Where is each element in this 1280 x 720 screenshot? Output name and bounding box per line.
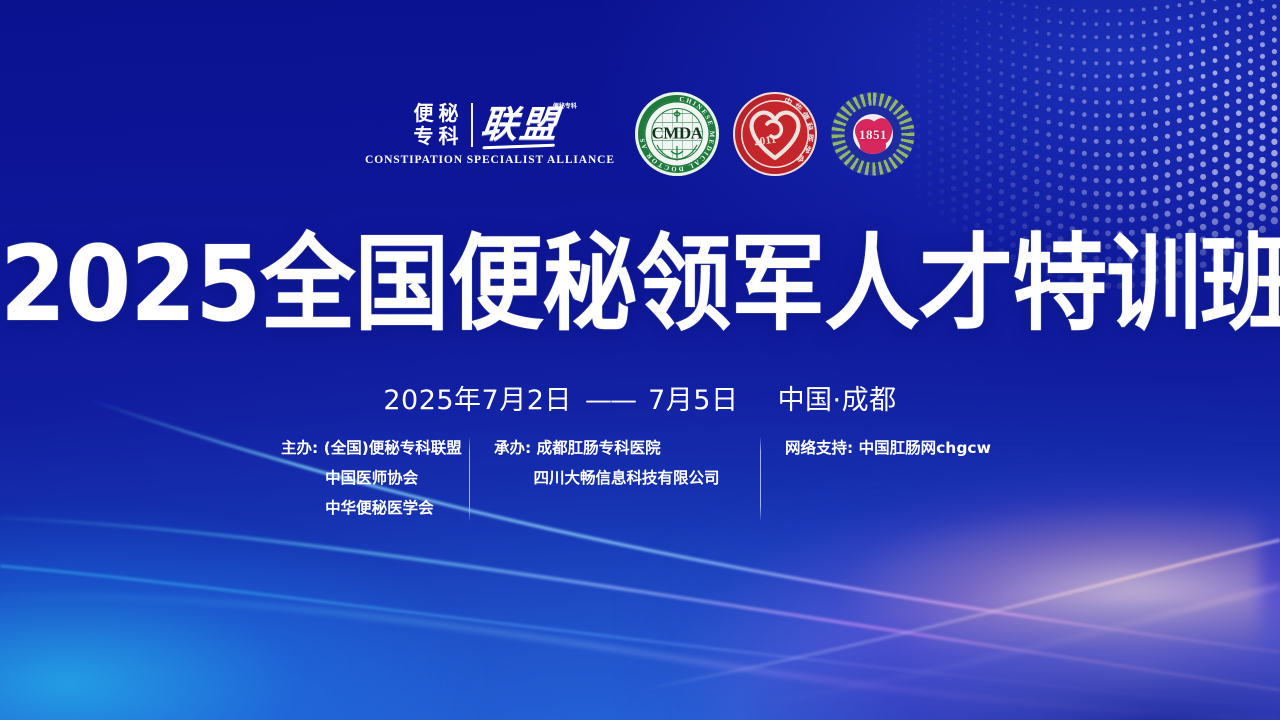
page-title: 2025全国便秘领军人才特训班: [0, 233, 1280, 338]
event-location: 中国·成都: [778, 385, 897, 416]
organizer-column-support: 网络支持: 中国肛肠网chgcw: [761, 434, 1011, 464]
coordinator-label: 承办:: [494, 439, 531, 457]
event-poster: 便秘 专科 联盟 便秘专科 CONSTIPATION SPECIALIST AL…: [0, 0, 1280, 720]
cmda-logo: CHINESE MEDICAL DOCTOR ASSOCIATION 中国医师协…: [635, 92, 719, 176]
event-date-location: 2025年7月2日 —— 7月5日 中国·成都: [0, 378, 1280, 417]
host-value-1: (全国)便秘专科联盟: [324, 439, 462, 457]
coordinator-line-1: 承办: 成都肛肠专科医院: [494, 434, 760, 464]
heart-1851-logo: 1851: [831, 92, 915, 176]
alliance-superscript: 便秘专科: [553, 104, 577, 110]
alliance-divider: [471, 103, 473, 147]
date-start: 2025年7月2日: [383, 385, 572, 416]
coordinator-value-2: 四川大畅信息科技有限公司: [494, 464, 760, 494]
organizer-section: 主办: (全国)便秘专科联盟 中国医师协会 中华便秘医学会 承办: 成都肛肠专科…: [0, 434, 1280, 534]
constipation-association-logo: 中华便秘医学会 CHINESE ASSOCIATION OF CONSTIPAT…: [733, 92, 817, 176]
host-value-3: 中华便秘医学会: [281, 494, 469, 524]
support-line-1: 网络支持: 中国肛肠网chgcw: [785, 434, 1011, 464]
cmda-inner-disc: CMDA: [644, 101, 710, 167]
alliance-logo: 便秘 专科 联盟 便秘专科 CONSTIPATION SPECIALIST AL…: [365, 102, 621, 166]
host-line-1: 主办: (全国)便秘专科联盟: [281, 434, 469, 464]
alliance-cn-line-1: 便秘: [408, 102, 463, 124]
organizer-column-host: 主办: (全国)便秘专科联盟 中国医师协会 中华便秘医学会: [269, 434, 469, 523]
cmda-abbreviation: CMDA: [644, 124, 710, 144]
support-label: 网络支持:: [785, 439, 853, 457]
logo-row: 便秘 专科 联盟 便秘专科 CONSTIPATION SPECIALIST AL…: [0, 86, 1280, 182]
support-value-1: 中国肛肠网chgcw: [859, 439, 991, 457]
alliance-script-text: 联盟 便秘专科: [480, 106, 574, 143]
host-label: 主办:: [281, 439, 318, 457]
heart-1851-number: 1851: [853, 127, 893, 143]
alliance-script-label: 联盟: [479, 102, 562, 146]
host-value-2: 中国医师协会: [281, 464, 469, 494]
coordinator-value-1: 成都肛肠专科医院: [537, 439, 661, 457]
organizer-column-coordinator: 承办: 成都肛肠专科医院 四川大畅信息科技有限公司: [470, 434, 760, 494]
alliance-english-name: CONSTIPATION SPECIALIST ALLIANCE: [365, 154, 615, 166]
alliance-cn-line-2: 专科: [408, 125, 463, 147]
cac-inner-disc: 2011: [741, 100, 809, 168]
date-end: 7月5日: [648, 385, 738, 416]
date-dash: ——: [581, 385, 639, 416]
heart-1851-disc: 1851: [853, 114, 893, 154]
deep-blue-glow: [750, 600, 1280, 720]
alliance-chinese-name: 便秘 专科: [408, 102, 463, 147]
